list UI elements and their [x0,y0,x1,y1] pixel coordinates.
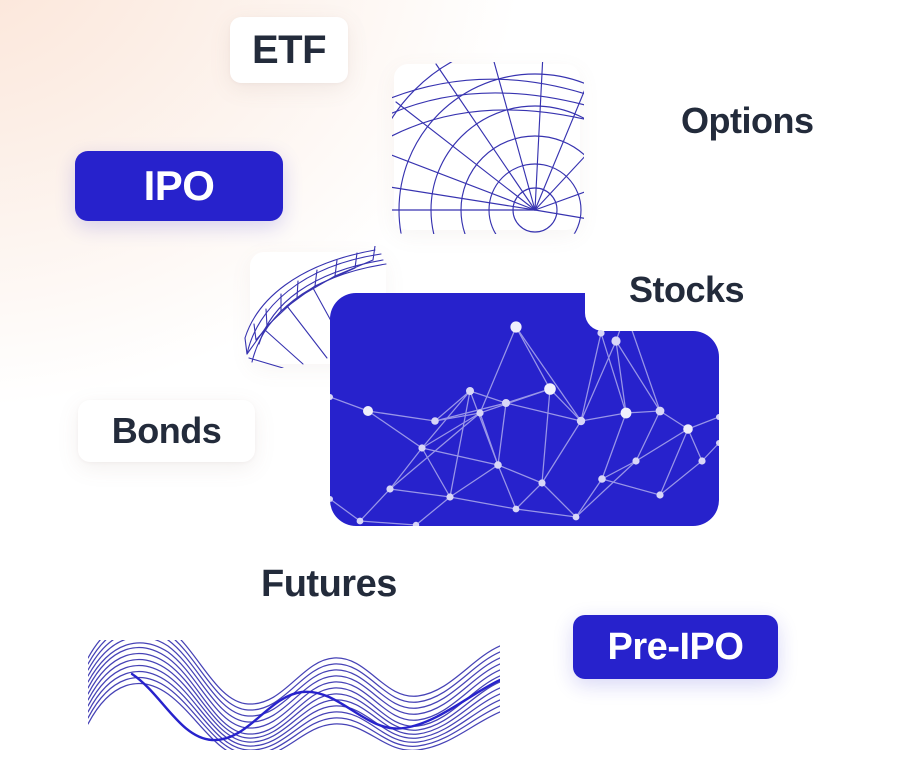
label-stocks[interactable]: Stocks [629,272,744,308]
globe-wireframe-graphic [392,62,584,234]
chip-bonds[interactable]: Bonds [78,400,255,462]
wave-lines-graphic [88,640,500,750]
chip-etf[interactable]: ETF [230,17,348,83]
asset-classes-canvas: ETF IPO Options Stocks Bonds Futures Pre… [0,0,900,783]
label-futures[interactable]: Futures [261,565,397,603]
button-ipo-label: IPO [144,165,215,207]
label-options[interactable]: Options [681,103,813,139]
chip-etf-label: ETF [252,30,326,70]
stocks-network-card [330,293,719,526]
button-ipo[interactable]: IPO [75,151,283,221]
button-pre-ipo[interactable]: Pre-IPO [573,615,778,679]
button-pre-ipo-label: Pre-IPO [608,628,744,666]
chip-bonds-label: Bonds [112,413,222,449]
